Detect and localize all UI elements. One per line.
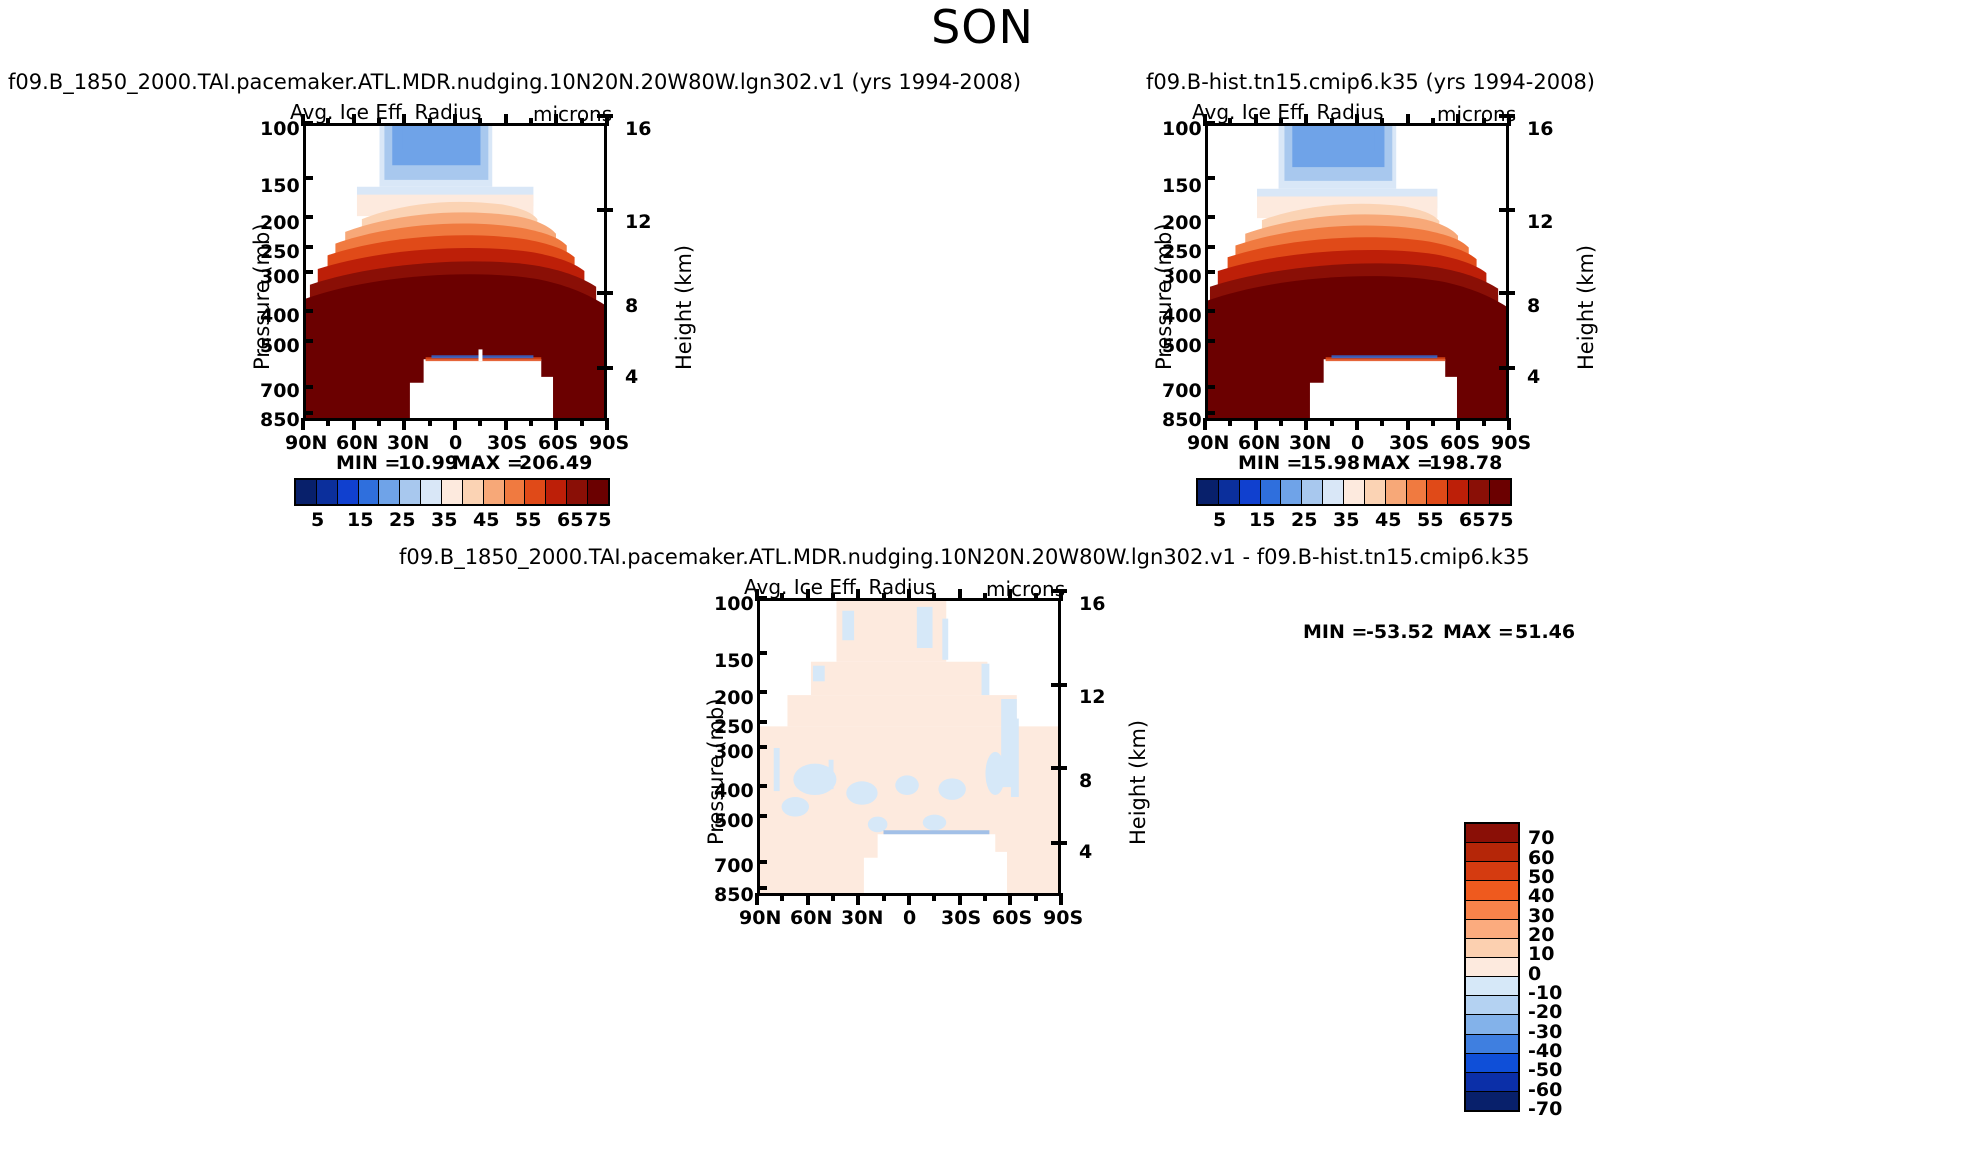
right-pressure-tickmark-7: [1205, 385, 1215, 389]
right-ytick-850: 850: [1162, 409, 1202, 431]
right-lat-tickmark-bot-0: [1203, 418, 1207, 430]
diff-height-tickmark-3: [1051, 841, 1067, 845]
left-xtick-30S: 30S: [487, 432, 527, 454]
diff-lat-tickmark-top-8: [958, 589, 962, 601]
diff-colorbar-swatch-0: [1466, 824, 1518, 843]
diff-colorbar-swatch-5: [1466, 920, 1518, 939]
diff-pressure-tickmark-5: [757, 784, 767, 788]
colorbar-swatch-10: [1407, 480, 1428, 504]
right-max-value: 198.78: [1429, 452, 1502, 474]
left-lat-tickmark-top-11: [580, 118, 584, 126]
diff-lat-tickmark-bot-8: [958, 893, 962, 905]
right-cbar-label-65: 65: [1459, 509, 1485, 531]
colorbar-swatch-9: [1386, 480, 1407, 504]
left-htick-16: 16: [625, 118, 651, 140]
diff-lat-tickmark-bot-2: [806, 893, 810, 905]
right-lat-tickmark-top-11: [1482, 118, 1486, 126]
left-ytick-850: 850: [260, 409, 300, 431]
left-lat-tickmark-top-8: [504, 114, 508, 126]
right-height-tickmark-2: [1499, 291, 1515, 295]
left-xtick-60N: 60N: [336, 432, 378, 454]
left-htick-8: 8: [625, 295, 638, 317]
left-htick-12: 12: [625, 211, 651, 233]
colorbar-swatch-3: [1261, 480, 1282, 504]
diff-ytick-500: 500: [714, 810, 754, 832]
diff-height-tickmark-1: [1051, 683, 1067, 687]
left-lat-tickmark-bot-3: [377, 418, 381, 426]
diff-lat-tickmark-top-9: [983, 593, 987, 601]
right-lat-tickmark-top-7: [1380, 118, 1384, 126]
right-height-tickmark-3: [1499, 366, 1515, 370]
left-ytick-300: 300: [260, 266, 300, 288]
right-lat-tickmark-top-0: [1203, 114, 1207, 126]
diff-colorbar-swatch-10: [1466, 1015, 1518, 1034]
right-cbar-label-15: 15: [1249, 509, 1275, 531]
left-xtick-30N: 30N: [387, 432, 429, 454]
right-min-value: 15.98: [1300, 452, 1360, 474]
diff-xtick-30N: 30N: [841, 907, 883, 929]
left-lat-tickmark-top-12: [605, 114, 609, 126]
left-pressure-tickmark-5: [303, 309, 313, 313]
diff-colorbar-swatch-6: [1466, 939, 1518, 958]
left-min-label: MIN =: [336, 452, 400, 474]
right-ytick-100: 100: [1162, 118, 1202, 140]
diff-colorbar-swatch-12: [1466, 1054, 1518, 1073]
colorbar-swatch-0: [296, 480, 317, 504]
colorbar-swatch-1: [1219, 480, 1240, 504]
colorbar-swatch-7: [442, 480, 463, 504]
left-pressure-tickmark-1: [303, 176, 313, 180]
diff-lat-tickmark-bot-12: [1059, 893, 1063, 905]
right-ylabel-height: Height (km): [1574, 245, 1598, 370]
diff-ytick-250: 250: [714, 716, 754, 738]
diff-ytick-100: 100: [714, 593, 754, 615]
left-lat-tickmark-top-2: [352, 114, 356, 126]
diff-min-label: MIN =: [1303, 621, 1367, 643]
left-pressure-tickmark-2: [303, 215, 313, 219]
colorbar-swatch-8: [1365, 480, 1386, 504]
diff-lat-tickmark-bot-1: [780, 893, 784, 901]
diff-ytick-850: 850: [714, 884, 754, 906]
diff-xtick-60N: 60N: [790, 907, 832, 929]
diff-lat-tickmark-top-4: [856, 589, 860, 601]
colorbar-swatch-12: [1448, 480, 1469, 504]
diff-ytick-700: 700: [714, 855, 754, 877]
left-cbar-label-25: 25: [389, 509, 415, 531]
diff-panel-title: f09.B_1850_2000.TAI.pacemaker.ATL.MDR.nu…: [399, 545, 1530, 569]
colorbar-swatch-8: [463, 480, 484, 504]
diff-ytick-150: 150: [714, 650, 754, 672]
diff-pressure-tickmark-1: [757, 651, 767, 655]
right-max-label: MAX =: [1362, 452, 1433, 474]
right-panel-title: f09.B-hist.tn15.cmip6.k35 (yrs 1994-2008…: [1146, 70, 1595, 94]
season-title: SON: [0, 0, 1965, 54]
diff-lat-tickmark-top-6: [907, 589, 911, 601]
diff-lat-tickmark-top-1: [780, 593, 784, 601]
colorbar-swatch-4: [379, 480, 400, 504]
colorbar-swatch-7: [1344, 480, 1365, 504]
right-htick-8: 8: [1527, 295, 1540, 317]
left-cbar-label-5: 5: [311, 509, 324, 531]
colorbar-swatch-14: [588, 480, 608, 504]
diff-htick-16: 16: [1079, 593, 1105, 615]
diff-ytick-300: 300: [714, 741, 754, 763]
left-cbar-label-15: 15: [347, 509, 373, 531]
diff-htick-4: 4: [1079, 841, 1092, 863]
colorbar-swatch-1: [317, 480, 338, 504]
left-pressure-tickmark-8: [303, 411, 313, 415]
left-lat-tickmark-bot-9: [529, 418, 533, 426]
right-ytick-150: 150: [1162, 175, 1202, 197]
diff-colorbar-swatch-9: [1466, 996, 1518, 1015]
left-pressure-tickmark-3: [303, 245, 313, 249]
diff-pressure-tickmark-2: [757, 690, 767, 694]
right-xtick-0: 0: [1351, 432, 1364, 454]
left-lat-tickmark-top-5: [428, 118, 432, 126]
left-lat-tickmark-bot-11: [580, 418, 584, 426]
diff-plot-area: [757, 598, 1061, 896]
diff-colorbar-swatch-3: [1466, 881, 1518, 900]
colorbar-swatch-11: [1427, 480, 1448, 504]
left-xtick-90S: 90S: [589, 432, 629, 454]
colorbar-swatch-3: [359, 480, 380, 504]
left-lat-tickmark-bot-1: [326, 418, 330, 426]
left-min-value: 10.99: [398, 452, 458, 474]
right-xtick-30N: 30N: [1289, 432, 1331, 454]
right-htick-4: 4: [1527, 366, 1540, 388]
colorbar-swatch-10: [505, 480, 526, 504]
left-lat-tickmark-bot-8: [504, 418, 508, 430]
right-htick-12: 12: [1527, 211, 1553, 233]
right-plot-area: [1205, 123, 1509, 421]
diff-htick-12: 12: [1079, 686, 1105, 708]
diff-xtick-0: 0: [903, 907, 916, 929]
right-htick-16: 16: [1527, 118, 1553, 140]
colorbar-swatch-9: [484, 480, 505, 504]
right-lat-tickmark-bot-6: [1355, 418, 1359, 430]
right-cbar-label-45: 45: [1375, 509, 1401, 531]
left-lat-tickmark-top-10: [554, 114, 558, 126]
colorbar-swatch-14: [1490, 480, 1510, 504]
left-pressure-tickmark-7: [303, 385, 313, 389]
diff-pressure-tickmark-6: [757, 814, 767, 818]
diff-ylabel-height: Height (km): [1126, 720, 1150, 845]
right-xtick-90S: 90S: [1491, 432, 1531, 454]
left-cbar-label-35: 35: [431, 509, 457, 531]
right-lat-tickmark-top-3: [1279, 118, 1283, 126]
left-ytick-500: 500: [260, 335, 300, 357]
colorbar-swatch-13: [567, 480, 588, 504]
right-pressure-tickmark-5: [1205, 309, 1215, 313]
left-lat-tickmark-bot-0: [301, 418, 305, 430]
right-xtick-30S: 30S: [1389, 432, 1429, 454]
diff-colorbar-swatch-1: [1466, 843, 1518, 862]
left-xtick-60S: 60S: [538, 432, 578, 454]
right-lat-tickmark-bot-1: [1228, 418, 1232, 426]
diff-lat-tickmark-bot-5: [882, 893, 886, 901]
right-lat-tickmark-bot-4: [1304, 418, 1308, 430]
colorbar-swatch-0: [1198, 480, 1219, 504]
diff-pressure-tickmark-7: [757, 860, 767, 864]
left-cbar-label-65: 65: [557, 509, 583, 531]
left-max-value: 206.49: [519, 452, 592, 474]
right-ytick-700: 700: [1162, 380, 1202, 402]
right-pressure-tickmark-2: [1205, 215, 1215, 219]
diff-xtick-90S: 90S: [1043, 907, 1083, 929]
right-lat-tickmark-bot-7: [1380, 418, 1384, 426]
right-ytick-250: 250: [1162, 241, 1202, 263]
left-htick-4: 4: [625, 366, 638, 388]
right-cbar-label-25: 25: [1291, 509, 1317, 531]
left-panel-title: f09.B_1850_2000.TAI.pacemaker.ATL.MDR.nu…: [8, 70, 1021, 94]
left-lat-tickmark-bot-2: [352, 418, 356, 430]
left-lat-tickmark-top-1: [326, 118, 330, 126]
left-height-tickmark-3: [597, 366, 613, 370]
left-ytick-700: 700: [260, 380, 300, 402]
left-lat-tickmark-bot-5: [428, 418, 432, 426]
colorbar-swatch-5: [1302, 480, 1323, 504]
diff-colorbar-label-14: -70: [1528, 1098, 1562, 1120]
diff-lat-tickmark-bot-0: [755, 893, 759, 905]
colorbar-swatch-4: [1281, 480, 1302, 504]
diff-xtick-30S: 30S: [941, 907, 981, 929]
right-lat-tickmark-bot-11: [1482, 418, 1486, 426]
colorbar-swatch-12: [546, 480, 567, 504]
diff-colorbar-swatch-7: [1466, 958, 1518, 977]
left-ytick-100: 100: [260, 118, 300, 140]
diff-ytick-200: 200: [714, 687, 754, 709]
diff-lat-tickmark-top-0: [755, 589, 759, 601]
right-min-label: MIN =: [1238, 452, 1302, 474]
right-cbar-label-35: 35: [1333, 509, 1359, 531]
diff-lat-tickmark-top-11: [1034, 593, 1038, 601]
left-height-tickmark-1: [597, 208, 613, 212]
diff-colorbar-swatch-13: [1466, 1073, 1518, 1092]
left-plot-area: [303, 123, 607, 421]
diff-colorbar-swatch-11: [1466, 1035, 1518, 1054]
right-xtick-90N: 90N: [1187, 432, 1229, 454]
colorbar-swatch-13: [1469, 480, 1490, 504]
diff-lat-tickmark-top-3: [831, 593, 835, 601]
left-xtick-0: 0: [449, 432, 462, 454]
diff-xtick-60S: 60S: [992, 907, 1032, 929]
left-lat-tickmark-top-7: [478, 118, 482, 126]
left-lat-tickmark-bot-7: [478, 418, 482, 426]
left-lat-tickmark-top-9: [529, 118, 533, 126]
right-lat-tickmark-top-10: [1456, 114, 1460, 126]
colorbar-swatch-5: [400, 480, 421, 504]
right-lat-tickmark-top-2: [1254, 114, 1258, 126]
diff-lat-tickmark-top-2: [806, 589, 810, 601]
left-lat-tickmark-top-6: [453, 114, 457, 126]
diff-lat-tickmark-top-7: [932, 593, 936, 601]
diff-lat-tickmark-bot-7: [932, 893, 936, 901]
left-lat-tickmark-top-3: [377, 118, 381, 126]
right-lat-tickmark-bot-5: [1330, 418, 1334, 426]
right-ytick-500: 500: [1162, 335, 1202, 357]
right-pressure-tickmark-6: [1205, 339, 1215, 343]
left-colorbar: [294, 478, 610, 506]
colorbar-swatch-11: [525, 480, 546, 504]
right-pressure-tickmark-4: [1205, 270, 1215, 274]
diff-lat-tickmark-bot-4: [856, 893, 860, 905]
right-lat-tickmark-bot-10: [1456, 418, 1460, 430]
right-lat-tickmark-bot-9: [1431, 418, 1435, 426]
right-cbar-label-5: 5: [1213, 509, 1226, 531]
right-ytick-200: 200: [1162, 212, 1202, 234]
right-pressure-tickmark-3: [1205, 245, 1215, 249]
left-lat-tickmark-top-0: [301, 114, 305, 126]
diff-colorbar-swatch-2: [1466, 862, 1518, 881]
right-pressure-tickmark-1: [1205, 176, 1215, 180]
left-pressure-tickmark-4: [303, 270, 313, 274]
left-ytick-200: 200: [260, 212, 300, 234]
right-xtick-60N: 60N: [1238, 432, 1280, 454]
left-ylabel-height: Height (km): [672, 245, 696, 370]
left-xtick-90N: 90N: [285, 432, 327, 454]
right-lat-tickmark-top-9: [1431, 118, 1435, 126]
diff-lat-tickmark-top-10: [1008, 589, 1012, 601]
right-lat-tickmark-top-5: [1330, 118, 1334, 126]
diff-height-tickmark-2: [1051, 766, 1067, 770]
diff-lat-tickmark-top-12: [1059, 589, 1063, 601]
diff-colorbar: [1464, 822, 1520, 1112]
right-cbar-label-75: 75: [1487, 509, 1513, 531]
diff-min-value: -53.52: [1366, 621, 1434, 643]
left-height-tickmark-2: [597, 291, 613, 295]
right-cbar-label-55: 55: [1417, 509, 1443, 531]
right-lat-tickmark-bot-2: [1254, 418, 1258, 430]
right-pressure-tickmark-8: [1205, 411, 1215, 415]
diff-ytick-400: 400: [714, 780, 754, 802]
diff-lat-tickmark-bot-9: [983, 893, 987, 901]
diff-xtick-90N: 90N: [739, 907, 781, 929]
right-lat-tickmark-bot-8: [1406, 418, 1410, 430]
diff-lat-tickmark-bot-6: [907, 893, 911, 905]
diff-contour-field: [760, 601, 1058, 893]
diff-max-value: 51.46: [1515, 621, 1575, 643]
left-lat-tickmark-bot-12: [605, 418, 609, 430]
left-cbar-label-45: 45: [473, 509, 499, 531]
left-cbar-label-55: 55: [515, 509, 541, 531]
diff-colorbar-swatch-8: [1466, 977, 1518, 996]
left-pressure-tickmark-6: [303, 339, 313, 343]
diff-colorbar-swatch-14: [1466, 1092, 1518, 1110]
left-lat-tickmark-top-4: [402, 114, 406, 126]
colorbar-swatch-2: [1240, 480, 1261, 504]
left-lat-tickmark-bot-4: [402, 418, 406, 430]
right-lat-tickmark-top-8: [1406, 114, 1410, 126]
diff-pressure-tickmark-3: [757, 720, 767, 724]
right-xtick-60S: 60S: [1440, 432, 1480, 454]
right-lat-tickmark-bot-12: [1507, 418, 1511, 430]
colorbar-swatch-2: [338, 480, 359, 504]
diff-lat-tickmark-bot-3: [831, 893, 835, 901]
right-lat-tickmark-bot-3: [1279, 418, 1283, 426]
diff-max-label: MAX =: [1443, 621, 1514, 643]
diff-pressure-tickmark-4: [757, 745, 767, 749]
right-lat-tickmark-top-12: [1507, 114, 1511, 126]
right-ytick-300: 300: [1162, 266, 1202, 288]
diff-pressure-tickmark-8: [757, 886, 767, 890]
right-ytick-400: 400: [1162, 305, 1202, 327]
diff-colorbar-swatch-4: [1466, 901, 1518, 920]
diff-lat-tickmark-top-5: [882, 593, 886, 601]
right-contour-field: [1208, 126, 1506, 418]
colorbar-swatch-6: [1323, 480, 1344, 504]
right-lat-tickmark-top-4: [1304, 114, 1308, 126]
diff-htick-8: 8: [1079, 770, 1092, 792]
right-lat-tickmark-top-6: [1355, 114, 1359, 126]
left-lat-tickmark-bot-6: [453, 418, 457, 430]
left-ytick-400: 400: [260, 305, 300, 327]
left-ytick-150: 150: [260, 175, 300, 197]
left-ytick-250: 250: [260, 241, 300, 263]
left-cbar-label-75: 75: [585, 509, 611, 531]
right-lat-tickmark-top-1: [1228, 118, 1232, 126]
colorbar-swatch-6: [421, 480, 442, 504]
diff-lat-tickmark-bot-10: [1008, 893, 1012, 905]
left-contour-field: [306, 126, 604, 418]
right-colorbar: [1196, 478, 1512, 506]
diff-lat-tickmark-bot-11: [1034, 893, 1038, 901]
right-height-tickmark-1: [1499, 208, 1515, 212]
left-max-label: MAX =: [452, 452, 523, 474]
left-lat-tickmark-bot-10: [554, 418, 558, 430]
